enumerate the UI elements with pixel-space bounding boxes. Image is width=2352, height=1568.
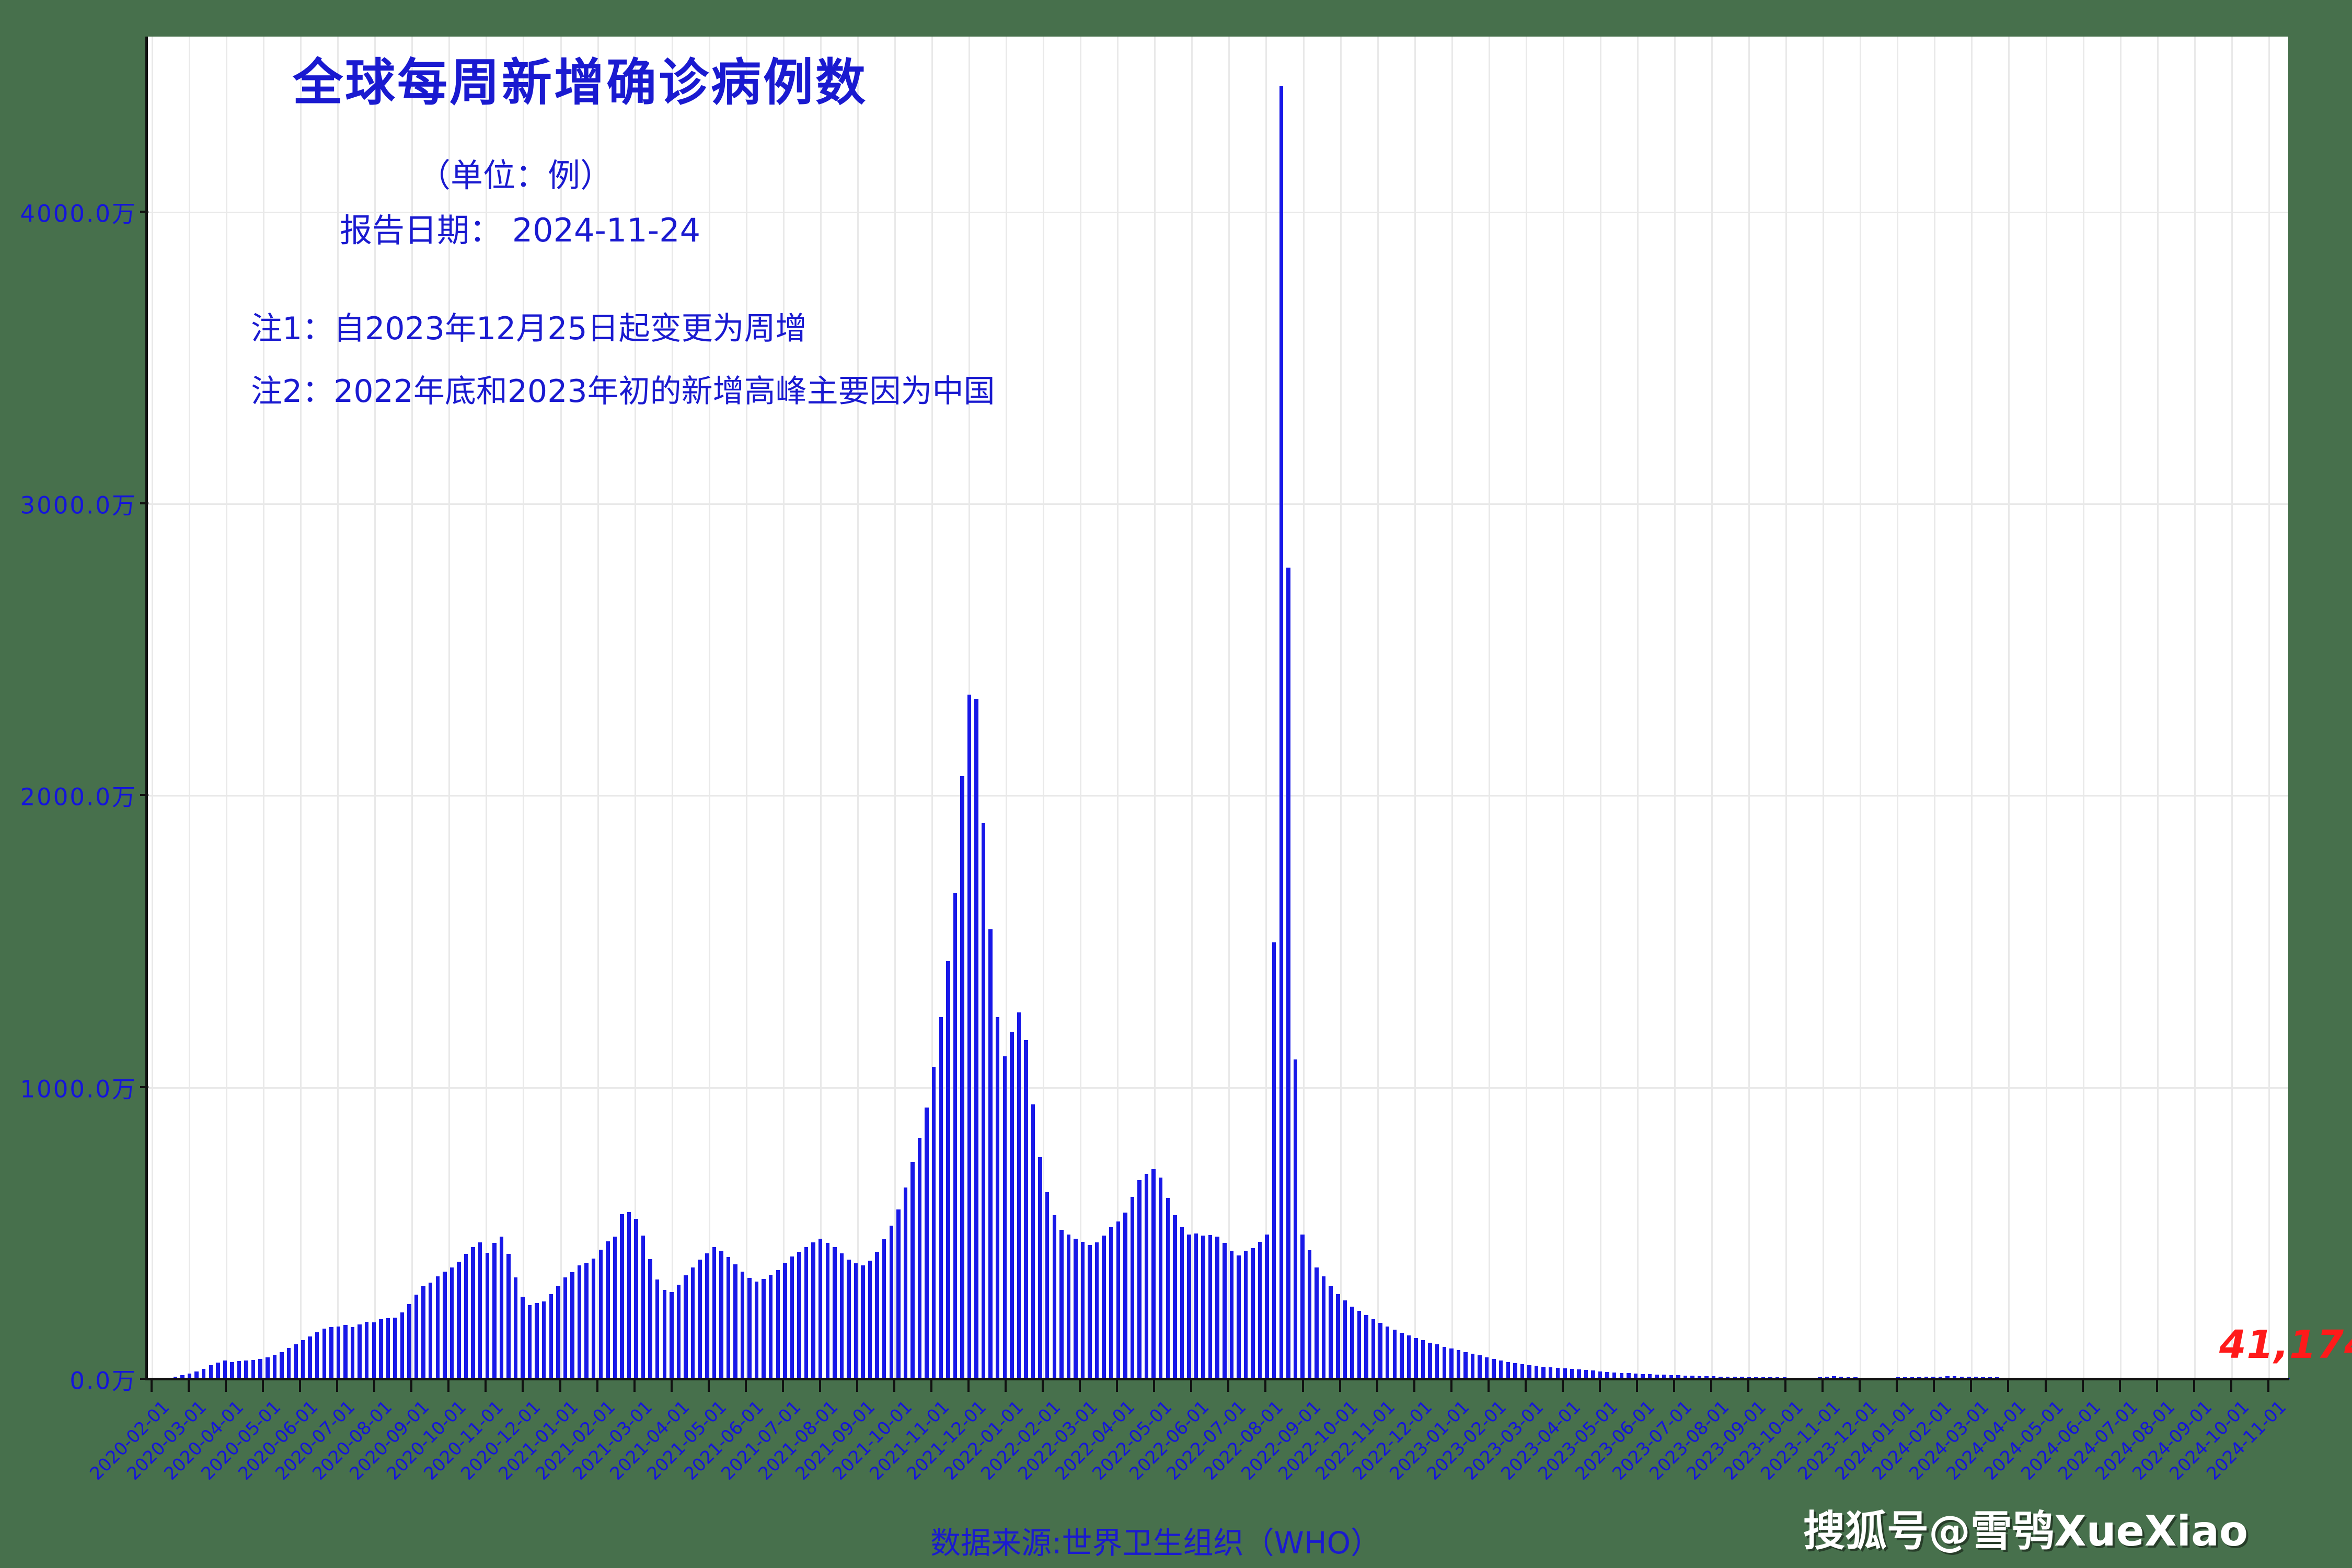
bar: [1123, 1213, 1127, 1379]
x-axis-tick: [967, 1380, 970, 1392]
bar: [1010, 1032, 1013, 1379]
bar: [592, 1259, 595, 1379]
gridline-vertical: [1451, 37, 1453, 1379]
gridline-vertical: [1191, 37, 1193, 1379]
gridline-vertical: [857, 37, 859, 1379]
x-axis-tick: [708, 1380, 710, 1392]
bar: [599, 1250, 603, 1379]
bar: [308, 1336, 312, 1379]
data-source-label: 数据来源:世界卫生组织（WHO）: [930, 1518, 1381, 1562]
gridline-vertical: [1637, 37, 1639, 1379]
bar: [804, 1247, 808, 1379]
bar: [1343, 1300, 1347, 1379]
bar: [1329, 1286, 1332, 1379]
bar: [1173, 1215, 1177, 1379]
bar: [1485, 1357, 1489, 1379]
x-axis-tick: [485, 1380, 487, 1392]
bar: [1492, 1359, 1495, 1379]
bar: [1421, 1340, 1425, 1379]
y-axis-tick-label: 0.0万: [0, 1362, 137, 1396]
x-axis-tick: [1970, 1380, 1972, 1392]
x-axis-tick: [1488, 1380, 1490, 1392]
x-axis-tick: [262, 1380, 264, 1392]
bar: [379, 1319, 383, 1379]
bar: [570, 1272, 574, 1379]
bar: [691, 1267, 695, 1379]
bar: [1194, 1233, 1198, 1379]
bar: [1201, 1236, 1205, 1379]
chart-title: 全球每周新增确诊病例数: [293, 42, 868, 114]
gridline-vertical: [1080, 37, 1081, 1379]
bar: [982, 823, 985, 1379]
bar: [776, 1270, 780, 1379]
gridline-vertical: [1934, 37, 1935, 1379]
x-axis-tick: [522, 1380, 524, 1392]
bar: [1428, 1343, 1432, 1379]
bar: [634, 1219, 638, 1379]
x-axis-tick: [2007, 1380, 2009, 1392]
bar: [244, 1361, 248, 1379]
x-axis-tick: [1153, 1380, 1155, 1392]
bar: [230, 1362, 234, 1379]
bar: [1265, 1235, 1269, 1379]
bar: [337, 1327, 340, 1379]
bar: [967, 695, 971, 1379]
bar: [1556, 1368, 1560, 1379]
bar: [1300, 1235, 1304, 1379]
bar: [492, 1243, 496, 1379]
bar: [322, 1329, 326, 1379]
bar: [1237, 1255, 1240, 1379]
bar: [974, 699, 978, 1379]
x-axis-line: [145, 1378, 2289, 1380]
bar: [698, 1260, 701, 1379]
bar: [386, 1318, 390, 1379]
y-axis-tick-label: 4000.0万: [0, 194, 137, 228]
bar: [833, 1247, 836, 1379]
bar: [542, 1301, 546, 1379]
x-axis-tick: [1562, 1380, 1564, 1392]
bar: [1031, 1104, 1035, 1379]
bar: [875, 1252, 879, 1379]
gridline-vertical: [1414, 37, 1416, 1379]
bar: [258, 1359, 262, 1379]
gridline-vertical: [263, 37, 264, 1379]
bar: [847, 1260, 850, 1379]
gridline-vertical: [300, 37, 302, 1379]
bar: [209, 1365, 213, 1379]
gridline-vertical: [894, 37, 896, 1379]
x-axis-tick: [1525, 1380, 1527, 1392]
bar: [1109, 1227, 1113, 1379]
x-axis-tick: [782, 1380, 784, 1392]
gridline-vertical: [1265, 37, 1267, 1379]
gridline-vertical: [1823, 37, 1824, 1379]
gridline-vertical: [1043, 37, 1044, 1379]
gridline-vertical: [189, 37, 190, 1379]
bar: [450, 1267, 454, 1379]
x-axis-tick: [1710, 1380, 1712, 1392]
bar: [1059, 1230, 1063, 1379]
x-axis-tick: [1896, 1380, 1898, 1392]
bar: [705, 1253, 709, 1379]
gridline-vertical: [1971, 37, 1973, 1379]
gridline-vertical: [1117, 37, 1119, 1379]
gridline-vertical: [1748, 37, 1750, 1379]
bar: [464, 1254, 468, 1379]
x-axis-tick: [1264, 1380, 1266, 1392]
bar: [528, 1305, 532, 1379]
gridline-vertical: [1860, 37, 1861, 1379]
bar: [1506, 1362, 1510, 1379]
bar: [1357, 1311, 1361, 1379]
bar: [613, 1237, 617, 1379]
gridline-vertical: [1340, 37, 1342, 1379]
bar: [1045, 1192, 1049, 1379]
bar: [1386, 1327, 1389, 1379]
bar: [429, 1283, 432, 1379]
x-axis-tick: [2082, 1380, 2084, 1392]
x-axis-tick: [336, 1380, 338, 1392]
x-axis-tick: [2156, 1380, 2158, 1392]
x-axis-tick: [1116, 1380, 1118, 1392]
x-axis-tick: [2193, 1380, 2195, 1392]
gridline-vertical: [820, 37, 822, 1379]
bar: [549, 1294, 553, 1379]
bar: [1407, 1335, 1411, 1379]
bar: [811, 1242, 815, 1379]
bar: [457, 1262, 460, 1379]
x-axis-tick: [893, 1380, 895, 1392]
bar: [1563, 1368, 1566, 1379]
bar: [1308, 1250, 1311, 1379]
bar: [1449, 1348, 1453, 1379]
bar: [790, 1256, 794, 1379]
bar: [797, 1252, 801, 1379]
gridline-vertical: [2194, 37, 2196, 1379]
bar: [514, 1277, 517, 1379]
bar: [712, 1247, 716, 1379]
gridline-vertical: [1489, 37, 1490, 1379]
bar: [521, 1297, 524, 1379]
bar: [294, 1344, 297, 1379]
bar: [414, 1295, 418, 1379]
bar: [1400, 1333, 1403, 1379]
bar: [500, 1237, 503, 1379]
bar: [655, 1279, 659, 1379]
gridline-vertical: [1711, 37, 1713, 1379]
bar: [1272, 942, 1276, 1379]
bar: [932, 1067, 936, 1379]
bar: [1053, 1215, 1056, 1379]
bar: [343, 1325, 347, 1379]
y-axis-tick: [140, 1086, 148, 1088]
bar: [237, 1361, 241, 1379]
bar: [960, 776, 964, 1379]
gridline-vertical: [2268, 37, 2270, 1379]
x-axis-tick: [1821, 1380, 1824, 1392]
bar: [1095, 1242, 1099, 1379]
bar: [606, 1241, 609, 1379]
gridline-vertical: [2120, 37, 2122, 1379]
bar: [315, 1332, 319, 1379]
bar: [436, 1276, 440, 1379]
gridline-vertical: [1563, 37, 1564, 1379]
x-axis-tick: [1859, 1380, 1861, 1392]
bar: [663, 1290, 666, 1379]
bar: [783, 1263, 787, 1379]
gridline-vertical: [1303, 37, 1305, 1379]
bar: [1223, 1243, 1226, 1379]
bar: [868, 1261, 872, 1379]
bar: [648, 1259, 652, 1379]
x-axis-tick: [671, 1380, 673, 1392]
x-axis-tick: [1933, 1380, 1935, 1392]
gridline-horizontal: [147, 1087, 2288, 1089]
bar: [684, 1275, 687, 1379]
gridline-vertical: [2231, 37, 2233, 1379]
gridline-horizontal: [147, 503, 2288, 505]
bar: [1074, 1239, 1077, 1379]
bar: [1435, 1344, 1439, 1379]
gridline-vertical: [2157, 37, 2159, 1379]
x-axis-tick: [188, 1380, 190, 1392]
bar: [896, 1209, 900, 1379]
bar: [769, 1275, 773, 1379]
note-1: 注1：自2023年12月25日起变更为周增: [251, 303, 807, 349]
bar: [478, 1242, 482, 1379]
y-axis-tick: [140, 1378, 148, 1380]
bar: [301, 1340, 305, 1379]
bar: [1371, 1319, 1375, 1379]
bar: [1541, 1367, 1545, 1379]
bar: [747, 1278, 751, 1379]
bar: [1294, 1059, 1297, 1379]
gridline-vertical: [2083, 37, 2084, 1379]
bar: [733, 1264, 737, 1379]
bar: [506, 1254, 510, 1379]
bar: [372, 1322, 376, 1379]
bar: [1038, 1157, 1042, 1379]
y-axis-tick-label: 1000.0万: [0, 1070, 137, 1104]
bar: [1463, 1352, 1467, 1379]
x-axis-tick: [2230, 1380, 2232, 1392]
bar: [407, 1304, 411, 1379]
y-axis-line: [145, 37, 148, 1380]
watermark-label: 搜狐号@雪鸮XueXiao: [1803, 1497, 2248, 1558]
x-axis-tick: [2119, 1380, 2121, 1392]
x-axis-tick: [1042, 1380, 1044, 1392]
bar: [1336, 1294, 1340, 1379]
bar: [273, 1355, 276, 1379]
bar: [1350, 1307, 1354, 1379]
bar: [719, 1251, 723, 1379]
bar: [1478, 1355, 1481, 1379]
bar: [826, 1243, 829, 1379]
bar: [1286, 568, 1290, 1379]
bar: [1535, 1366, 1538, 1379]
bar: [861, 1265, 864, 1379]
x-axis-tick: [1079, 1380, 1081, 1392]
bar: [762, 1279, 765, 1379]
bar: [1230, 1251, 1233, 1379]
bar: [988, 929, 992, 1379]
bar: [1499, 1361, 1503, 1379]
bar: [1187, 1235, 1191, 1379]
x-axis-tick: [856, 1380, 858, 1392]
x-axis-tick: [596, 1380, 598, 1392]
bar: [818, 1239, 822, 1379]
gridline-vertical: [1674, 37, 1676, 1379]
bar: [400, 1312, 404, 1379]
bar: [946, 961, 950, 1379]
last-value-annotation: 41,174: [2219, 1322, 2352, 1367]
bar: [329, 1327, 333, 1379]
gridline-vertical: [2046, 37, 2047, 1379]
bar: [443, 1272, 446, 1379]
gridline-vertical: [746, 37, 747, 1379]
bar: [584, 1263, 588, 1379]
bar: [1443, 1347, 1446, 1379]
gridline-vertical: [1600, 37, 1601, 1379]
x-axis-tick: [633, 1380, 636, 1392]
bar: [840, 1253, 844, 1379]
bar: [216, 1363, 220, 1379]
bar: [1166, 1198, 1170, 1379]
y-axis-tick: [140, 211, 148, 213]
x-axis-tick: [1673, 1380, 1675, 1392]
x-axis-tick: [1784, 1380, 1786, 1392]
bar: [1159, 1178, 1162, 1379]
bar: [1414, 1338, 1417, 1379]
bar: [627, 1212, 631, 1379]
bar: [1457, 1350, 1460, 1379]
bar: [223, 1361, 227, 1379]
bar: [1315, 1267, 1318, 1379]
bar: [1393, 1330, 1397, 1379]
bar: [393, 1318, 397, 1379]
bar: [1081, 1242, 1085, 1379]
bar: [471, 1247, 475, 1379]
x-axis-tick: [447, 1380, 449, 1392]
y-axis-tick-label: 3000.0万: [0, 487, 137, 521]
bar: [266, 1357, 269, 1379]
bar: [1364, 1315, 1368, 1379]
x-axis-tick: [745, 1380, 747, 1392]
bar: [620, 1214, 624, 1379]
bar: [1131, 1197, 1134, 1379]
bar: [670, 1292, 673, 1379]
gridline-vertical: [709, 37, 710, 1379]
bar: [556, 1286, 560, 1379]
bar: [755, 1282, 758, 1379]
gridline-vertical: [1377, 37, 1379, 1379]
x-axis-tick: [1747, 1380, 1749, 1392]
x-axis-tick: [1413, 1380, 1415, 1392]
bar: [953, 893, 957, 1379]
bar: [996, 1017, 999, 1379]
gridline-vertical: [783, 37, 785, 1379]
chart-subtitle: （单位：例）: [418, 149, 613, 196]
gridline-vertical: [152, 37, 153, 1379]
x-axis-tick: [151, 1380, 153, 1392]
bar: [1279, 86, 1283, 1379]
bar: [1137, 1180, 1141, 1379]
bar: [365, 1322, 368, 1379]
bar: [1180, 1227, 1184, 1379]
gridline-horizontal: [147, 795, 2288, 797]
bar: [741, 1272, 744, 1379]
gridline-vertical: [1526, 37, 1527, 1379]
bar: [890, 1226, 893, 1379]
x-axis-tick: [1636, 1380, 1638, 1392]
bar: [1251, 1248, 1254, 1379]
x-axis-tick: [1227, 1380, 1229, 1392]
bar: [351, 1327, 354, 1379]
bar: [1244, 1251, 1248, 1379]
x-axis-tick: [1376, 1380, 1378, 1392]
x-axis-tick: [1302, 1380, 1304, 1392]
x-axis-tick: [1190, 1380, 1192, 1392]
x-axis-tick: [1005, 1380, 1007, 1392]
x-axis-tick: [1339, 1380, 1341, 1392]
x-axis-tick: [2045, 1380, 2047, 1392]
bar: [1017, 1012, 1021, 1379]
bar: [727, 1257, 730, 1379]
bar: [1215, 1237, 1219, 1379]
gridline-vertical: [1785, 37, 1787, 1379]
chart-root: 0.0万1000.0万2000.0万3000.0万4000.0万 2020-02…: [0, 0, 2352, 1568]
bar: [287, 1348, 291, 1379]
gridline-vertical: [2008, 37, 2010, 1379]
bar: [1520, 1364, 1524, 1379]
bar: [1088, 1245, 1091, 1379]
bar: [1151, 1169, 1155, 1379]
bar: [1378, 1323, 1382, 1379]
bar: [421, 1286, 425, 1379]
bar: [563, 1277, 567, 1379]
bar: [1322, 1276, 1325, 1379]
x-axis-tick: [559, 1380, 561, 1392]
bar: [358, 1324, 361, 1379]
bar: [1024, 1040, 1028, 1379]
x-axis-tick: [225, 1380, 227, 1392]
bar: [904, 1187, 907, 1379]
report-date-label: 报告日期： 2024-11-24: [340, 204, 700, 251]
x-axis-tick: [299, 1380, 301, 1392]
bar: [535, 1303, 538, 1379]
bar: [251, 1360, 255, 1379]
bar: [578, 1265, 581, 1379]
x-axis-tick: [1450, 1380, 1452, 1392]
y-axis-tick: [140, 502, 148, 504]
bar: [1513, 1363, 1517, 1379]
bar: [939, 1017, 943, 1379]
x-axis-tick: [373, 1380, 375, 1392]
gridline-vertical: [337, 37, 339, 1379]
x-axis-tick: [819, 1380, 821, 1392]
x-axis-tick: [410, 1380, 412, 1392]
bar: [1208, 1235, 1212, 1379]
bar: [918, 1138, 921, 1379]
bar: [280, 1352, 283, 1379]
bar: [910, 1162, 914, 1379]
y-axis-tick-label: 2000.0万: [0, 778, 137, 812]
x-axis-tick: [930, 1380, 932, 1392]
bar: [1258, 1242, 1262, 1379]
bar: [1116, 1221, 1120, 1379]
x-axis-tick: [1599, 1380, 1601, 1392]
